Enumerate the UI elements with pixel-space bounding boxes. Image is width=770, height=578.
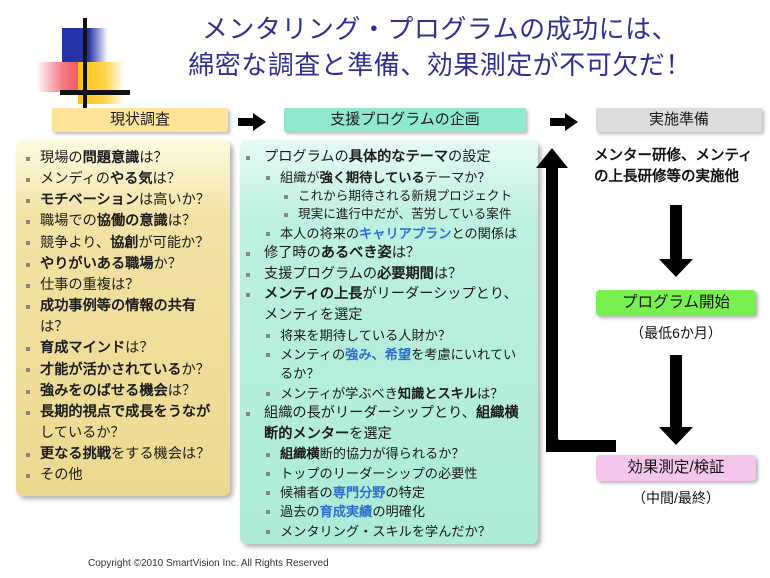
stage-header-prepare: 実施準備 [596,108,762,132]
bullet-icon [26,199,30,203]
list-item: 組織が強く期待しているテーマか？ [246,168,528,187]
list-item: 更なる挑戦をする機会は？ [26,444,222,465]
list-item-label: プログラムの具体的なテーマの設定 [264,147,528,168]
list-item-label: 候補者の専門分野の特定 [280,483,528,502]
list-item: メンティが学ぶべき知識とスキルは？ [246,384,528,403]
list-item: プログラムの具体的なテーマの設定 [246,147,528,168]
list-item-label: 将来を期待している人財か？ [280,326,528,345]
list-item-label: 仕事の重複は？ [40,275,222,296]
list-item-label: 育成マインドは？ [40,338,222,359]
list-item-label: 成功事例等の情報の共有は？ [40,296,222,338]
plan-panel: プログラムの具体的なテーマの設定組織が強く期待しているテーマか？これから期待され… [240,140,538,544]
list-item-label: 更なる挑戦をする機会は？ [40,444,222,465]
bullet-icon [266,491,270,495]
bullet-icon [26,305,30,309]
list-item: 職場での協働の意識は？ [26,211,222,232]
slide-canvas: メンタリング・プログラムの成功には、 綿密な調査と準備、効果測定が不可欠だ！ 現… [0,0,770,578]
list-item: 過去の育成実績の明確化 [246,502,528,521]
list-item: メンティの上長がリーダーシップとり、メンティを選定 [246,284,528,325]
list-item: トップのリーダーシップの必要性 [246,464,528,483]
bullet-icon [26,220,30,224]
logo-horizontal-bar [60,90,130,95]
list-item: 育成マインドは？ [26,338,222,359]
list-item: メンタリング・スキルを学んだか？ [246,522,528,541]
list-item: その他 [26,465,222,486]
bullet-icon [26,411,30,415]
list-item-label: 組織の長がリーダーシップとり、組織横断的メンターを選定 [264,403,528,444]
list-item-label: 組織横断的協力が得られるか？ [280,444,528,463]
list-item-label: メンティが学ぶべき知識とスキルは？ [280,384,528,403]
list-item-label: 強みをのばせる機会は？ [40,381,222,402]
list-item: 才能が活かされているか？ [26,360,222,381]
bullet-icon [26,453,30,457]
list-item: 本人の将来のキャリアプランとの関係は [246,224,528,243]
list-item-label: 現場の問題意識は？ [40,148,222,169]
list-item: メンティの強み、希望を考慮にいれているか？ [246,345,528,384]
bullet-icon [246,273,250,277]
list-item: 組織横断的協力が得られるか？ [246,444,528,463]
program-start-box: プログラム開始 [596,290,756,316]
list-item-label: メンティの強み、希望を考慮にいれているか？ [280,345,528,384]
bullet-icon [26,178,30,182]
list-item-label: メンディのやる気は？ [40,169,222,190]
bullet-icon [284,195,288,199]
list-item: 長期的視点で成長をうながしているか？ [26,402,222,444]
bullet-icon [266,472,270,476]
bullet-icon [26,390,30,394]
bullet-icon [246,252,250,256]
list-item-label: モチベーションは高いか？ [40,190,222,211]
bullet-icon [246,156,250,160]
arrow-down-to-measurement-icon [659,355,693,445]
list-item: 支援プログラムの必要期間は？ [246,264,528,285]
stage-header-survey: 現状調査 [52,108,228,132]
duration-caption: （最低6か月） [593,323,759,343]
bullet-icon [26,347,30,351]
training-description: メンター研修、メンティの上長研修等の実施他 [594,146,754,188]
page-title: メンタリング・プログラムの成功には、 綿密な調査と準備、効果測定が不可欠だ！ [120,12,760,84]
list-item: 成功事例等の情報の共有は？ [26,296,222,338]
copyright-notice: Copyright ©2010 SmartVision Inc. All Rig… [88,558,329,569]
smartvision-logo [34,18,130,110]
list-item-label: 本人の将来のキャリアプランとの関係は [280,224,528,243]
plan-item-list: プログラムの具体的なテーマの設定組織が強く期待しているテーマか？これから期待され… [240,140,538,541]
bullet-icon [266,530,270,534]
bullet-icon [26,241,30,245]
list-item-label: 組織が強く期待しているテーマか？ [280,168,528,187]
list-item: 将来を期待している人財か？ [246,326,528,345]
list-item-label: トップのリーダーシップの必要性 [280,464,528,483]
bullet-icon [266,453,270,457]
list-item-label: 現実に進行中だが、苦労している案件 [298,205,528,223]
list-item-label: 才能が活かされているか？ [40,360,222,381]
bullet-icon [266,510,270,514]
list-item: これから期待される新規プロジェクト [246,187,528,205]
bullet-icon [26,368,30,372]
list-item-label: 修了時のあるべき姿は？ [264,243,528,264]
bullet-icon [266,334,270,338]
bullet-icon [284,213,288,217]
list-item: メンディのやる気は？ [26,169,222,190]
list-item-label: 支援プログラムの必要期間は？ [264,264,528,285]
list-item: 仕事の重複は？ [26,275,222,296]
bullet-icon [266,392,270,396]
list-item-label: メンタリング・スキルを学んだか？ [280,522,528,541]
measurement-box: 効果測定/検証 [596,455,756,481]
list-item-label: やりがいある職場か？ [40,254,222,275]
bullet-icon [266,176,270,180]
bullet-icon [266,232,270,236]
bullet-icon [26,157,30,161]
title-line-1: メンタリング・プログラムの成功には、 [202,14,678,44]
arrow-down-to-program-start-icon [659,205,693,277]
bullet-icon [246,293,250,297]
list-item: 現実に進行中だが、苦労している案件 [246,205,528,223]
bullet-icon [26,284,30,288]
list-item-label: その他 [40,465,222,486]
list-item: 現場の問題意識は？ [26,148,222,169]
logo-vertical-bar [83,18,87,110]
list-item: 修了時のあるべき姿は？ [246,243,528,264]
list-item: 組織の長がリーダーシップとり、組織横断的メンターを選定 [246,403,528,444]
list-item-label: 競争より、協創が可能か？ [40,233,222,254]
list-item-label: メンティの上長がリーダーシップとり、メンティを選定 [264,284,528,325]
title-line-2: 綿密な調査と準備、効果測定が不可欠だ！ [120,48,760,84]
list-item-label: 過去の育成実績の明確化 [280,502,528,521]
list-item-label: 長期的視点で成長をうながしているか？ [40,402,222,444]
survey-item-list: 現場の問題意識は？メンディのやる気は？モチベーションは高いか？職場での協働の意識… [16,140,230,487]
list-item: 競争より、協創が可能か？ [26,233,222,254]
list-item: 強みをのばせる機会は？ [26,381,222,402]
survey-panel: 現場の問題意識は？メンディのやる気は？モチベーションは高いか？職場での協働の意識… [16,140,230,496]
list-item: 候補者の専門分野の特定 [246,483,528,502]
bullet-icon [266,353,270,357]
logo-red-square [36,62,84,92]
list-item-label: 職場での協働の意識は？ [40,211,222,232]
list-item: モチベーションは高いか？ [26,190,222,211]
list-item: やりがいある職場か？ [26,254,222,275]
measurement-caption: （中間/最終） [593,488,759,508]
list-item-label: これから期待される新規プロジェクト [298,187,528,205]
bullet-icon [26,474,30,478]
bullet-icon [26,263,30,267]
bullet-icon [246,412,250,416]
stage-header-plan: 支援プログラムの企画 [284,108,526,132]
